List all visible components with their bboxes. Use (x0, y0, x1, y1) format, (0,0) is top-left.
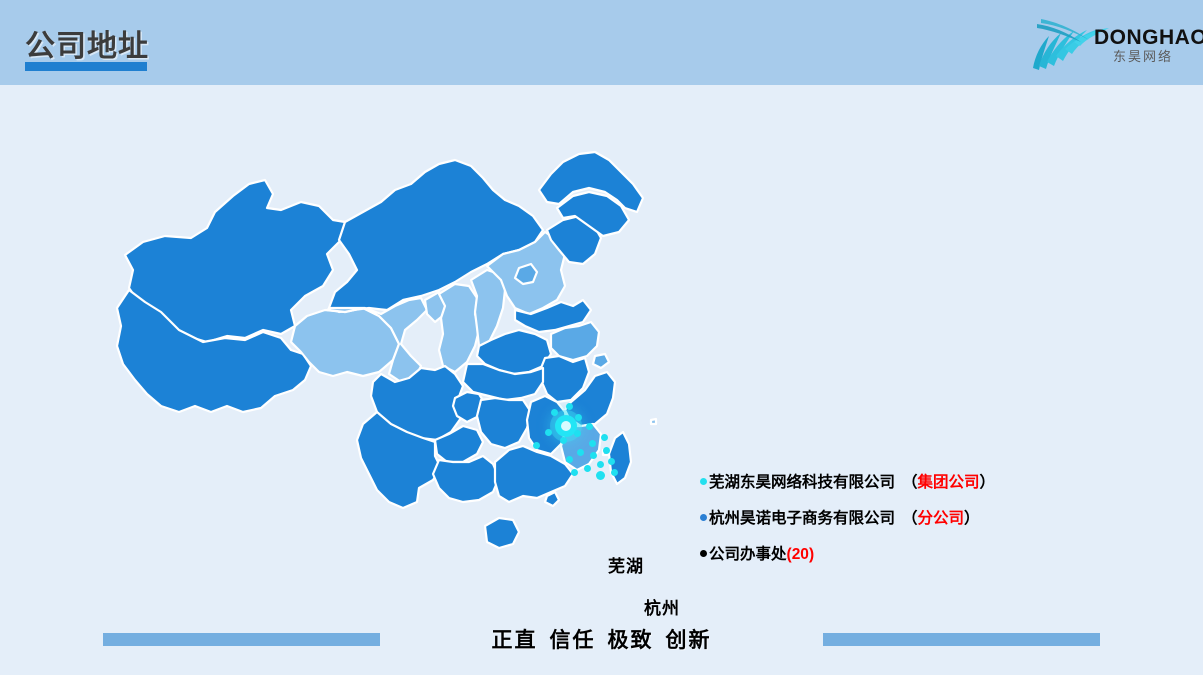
office-dot[interactable] (584, 465, 591, 472)
office-dot[interactable] (533, 442, 540, 449)
office-dot[interactable] (574, 430, 581, 437)
legend: 芜湖东昊网络科技有限公司（集团公司） 杭州昊诺电子商务有限公司（分公司） 公司办… (700, 465, 1030, 573)
slogan-word: 信任 (550, 629, 596, 652)
legend-bullet-black-icon (700, 550, 707, 557)
legend-paren-open: （ (902, 510, 918, 527)
china-map: 芜湖 杭州 (95, 150, 715, 610)
province-guangdong (495, 446, 573, 502)
province-hunan (477, 398, 531, 448)
province-shaanxi (439, 284, 479, 372)
office-dot[interactable] (566, 456, 573, 463)
island-outlying (651, 419, 656, 424)
slogan-word: 正直 (492, 629, 538, 652)
slide: 公司地址 DONGHAO 东昊网络 (0, 0, 1203, 675)
office-dot[interactable] (575, 414, 582, 421)
legend-paren-close: ) (809, 546, 814, 563)
legend-tag: 分公司 (918, 510, 965, 527)
city-label-hangzhou: 杭州 (644, 594, 680, 619)
office-dot[interactable] (597, 461, 604, 468)
office-dot[interactable] (586, 423, 593, 430)
footer-slogan: 正直信任极致创新 (0, 624, 1203, 654)
province-guangxi (433, 456, 499, 502)
title-underline (25, 62, 147, 71)
legend-paren-close: ） (980, 474, 996, 491)
logo-wordmark: DONGHAO (1094, 27, 1203, 48)
legend-row: 公司办事处(20) (700, 537, 1030, 573)
company-logo: DONGHAO 东昊网络 (1021, 12, 1191, 74)
slogan-word: 极致 (608, 629, 654, 652)
slogan-word: 创新 (666, 629, 712, 652)
legend-tag: 集团公司 (918, 474, 980, 491)
office-dot[interactable] (611, 469, 618, 476)
legend-paren-close: ） (964, 510, 980, 527)
office-dot[interactable] (566, 403, 573, 410)
header-band: 公司地址 DONGHAO 东昊网络 (0, 0, 1203, 85)
legend-row: 芜湖东昊网络科技有限公司（集团公司） (700, 465, 1030, 501)
city-label-wuhu: 芜湖 (608, 552, 644, 577)
office-dot[interactable] (608, 458, 615, 465)
office-dot[interactable] (571, 469, 578, 476)
office-dot[interactable] (596, 471, 605, 480)
office-dot[interactable] (589, 440, 596, 447)
province-hainan (485, 518, 519, 548)
china-map-svg (95, 150, 715, 610)
office-dot[interactable] (603, 447, 610, 454)
legend-label: 杭州昊诺电子商务有限公司 (709, 510, 895, 527)
office-dot[interactable] (590, 452, 597, 459)
office-dot[interactable] (601, 434, 608, 441)
legend-label: 芜湖东昊网络科技有限公司 (709, 474, 895, 491)
province-shanghai (593, 354, 609, 368)
legend-tag: 20 (792, 546, 809, 563)
legend-row: 杭州昊诺电子商务有限公司（分公司） (700, 501, 1030, 537)
legend-bullet-cyan-icon (700, 478, 707, 485)
office-dot[interactable] (560, 437, 567, 444)
office-dot[interactable] (577, 449, 584, 456)
legend-label: 公司办事处 (709, 546, 787, 563)
office-dot[interactable] (551, 409, 558, 416)
legend-bullet-blue-icon (700, 514, 707, 521)
legend-paren-open: （ (902, 474, 918, 491)
logo-subtitle: 东昊网络 (1113, 50, 1173, 63)
page-title: 公司地址 (25, 21, 149, 65)
office-dot[interactable] (545, 429, 552, 436)
